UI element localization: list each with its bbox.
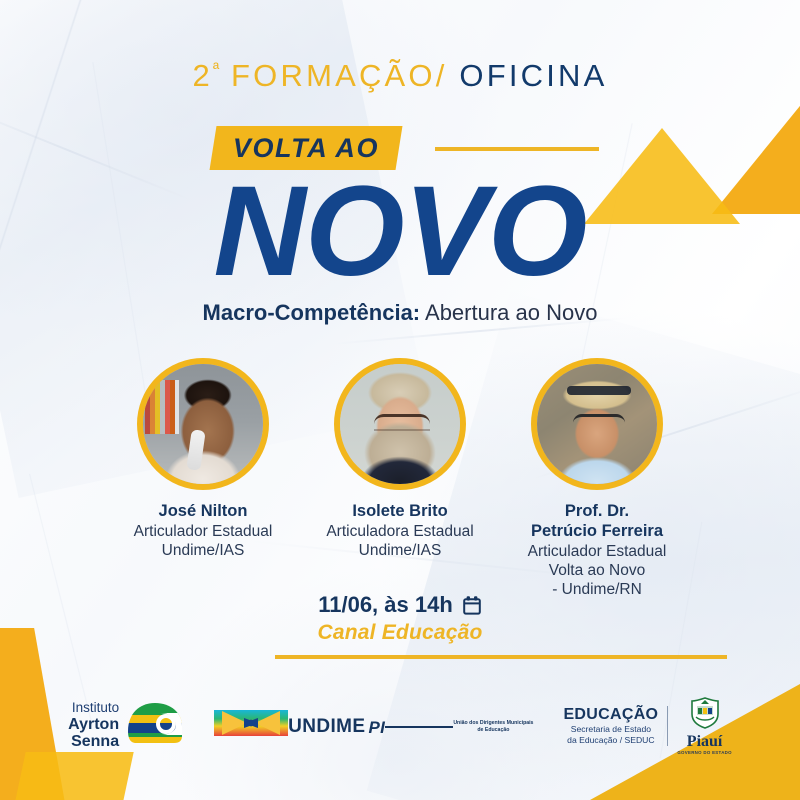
event-poster: 2ª FORMAÇÃO/ OFICINA VOLTA AO NOVO Macro…: [0, 0, 800, 800]
headline-yellow-text: FORMAÇÃO/: [231, 58, 448, 93]
undime-underline: [385, 726, 453, 728]
speaker-role: Articulador Estadual Volta ao Novo - Und…: [504, 542, 690, 599]
speaker-name: José Nilton: [110, 501, 296, 521]
speaker-card: Isolete Brito Articuladora Estadual Undi…: [307, 358, 493, 599]
page-subtitle: Macro-Competência: Abertura ao Novo: [0, 300, 800, 326]
speaker-photo-jose-nilton: [143, 364, 263, 484]
volta-rule: [435, 147, 599, 151]
logo-instituto-ayrton-senna: Instituto Ayrton Senna: [68, 701, 184, 750]
avatar: [334, 358, 466, 490]
speaker-name: Isolete Brito: [307, 501, 493, 521]
piaui-subtitle: GOVERNO DO ESTADO: [677, 750, 732, 755]
event-info: 11/06, às 14h Canal Educação: [0, 592, 800, 645]
calendar-icon: [462, 595, 482, 616]
page-title: NOVO: [0, 168, 800, 296]
undime-tagline: União dos Dirigentes Municipais de Educa…: [453, 720, 533, 734]
coat-of-arms-icon: [690, 716, 720, 733]
speaker-role: Articulador Estadual Undime/IAS: [110, 522, 296, 560]
avatar: [137, 358, 269, 490]
piaui-block: Piauí GOVERNO DO ESTADO: [668, 697, 732, 755]
undime-name: UNDIME: [288, 717, 365, 736]
seduc-subtitle: Secretaria de Estado da Educação / SEDUC: [563, 724, 658, 745]
headline-ordinal: ª: [213, 60, 219, 79]
page-headline: 2ª FORMAÇÃO/ OFICINA: [0, 58, 800, 94]
headline-navy-text: OFICINA: [459, 58, 607, 93]
seduc-block: EDUCAÇÃO Secretaria de Estado da Educaçã…: [563, 706, 668, 745]
logo-undime: UNDIME PI União dos Dirigentes Municipai…: [214, 710, 533, 742]
undime-state: PI: [368, 719, 385, 736]
speaker-card: José Nilton Articulador Estadual Undime/…: [110, 358, 296, 599]
footer-divider: [275, 655, 727, 659]
subtitle-bold: Macro-Competência:: [203, 300, 421, 325]
undime-wordmark: UNDIME PI: [288, 717, 385, 736]
piaui-name: Piauí: [677, 734, 732, 750]
event-date-text: 11/06, às 14h: [318, 592, 453, 618]
event-channel: Canal Educação: [0, 621, 800, 645]
undime-bowtie-icon: [214, 710, 288, 740]
speaker-photo-petrucio-ferreira: [537, 364, 657, 484]
headline-number: 2: [192, 58, 212, 93]
speaker-photo-isolete-brito: [340, 364, 460, 484]
helmet-icon: [126, 701, 184, 750]
ayrton-senna-line1: Instituto: [68, 701, 119, 716]
ayrton-senna-line3: Senna: [68, 733, 119, 750]
logo-seduc-piaui: EDUCAÇÃO Secretaria de Estado da Educaçã…: [563, 697, 731, 755]
seduc-title: EDUCAÇÃO: [563, 706, 658, 724]
footer-logos: Instituto Ayrton Senna: [0, 697, 800, 755]
avatar: [531, 358, 663, 490]
speaker-card: Prof. Dr. Petrúcio Ferreira Articulador …: [504, 358, 690, 599]
speaker-role: Articuladora Estadual Undime/IAS: [307, 522, 493, 560]
ayrton-senna-line2: Ayrton: [68, 716, 119, 733]
event-date-line: 11/06, às 14h: [0, 592, 800, 618]
subtitle-rest: Abertura ao Novo: [420, 300, 597, 325]
speaker-name: Prof. Dr. Petrúcio Ferreira: [504, 501, 690, 541]
speakers-row: José Nilton Articulador Estadual Undime/…: [110, 358, 690, 599]
ayrton-senna-wordmark: Instituto Ayrton Senna: [68, 701, 119, 750]
